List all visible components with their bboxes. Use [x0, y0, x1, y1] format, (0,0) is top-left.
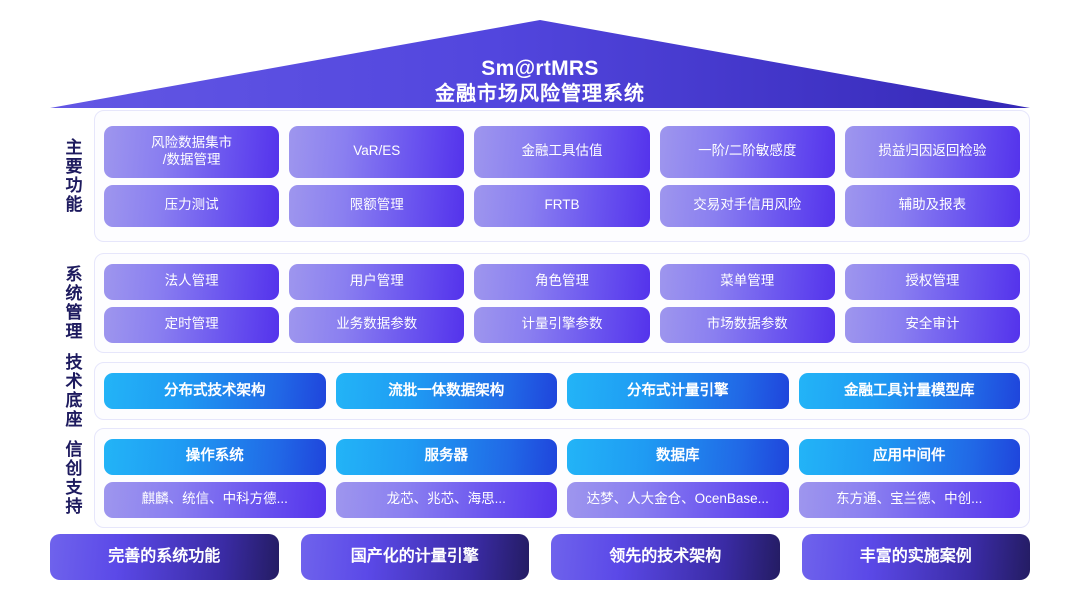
feature-cell[interactable]: 用户管理: [289, 264, 464, 300]
feature-cell[interactable]: 菜单管理: [660, 264, 835, 300]
highlight-cell[interactable]: 领先的技术架构: [551, 534, 780, 580]
feature-cell[interactable]: 辅助及报表: [845, 185, 1020, 227]
panel-row: 操作系统 服务器 数据库 应用中间件: [104, 439, 1020, 475]
layer-label-xinchuang-support: 信创支持: [50, 428, 94, 528]
layer-xinchuang-support: 信创支持 操作系统 服务器 数据库 应用中间件 麒麟、统信、中科方德... 龙芯…: [50, 428, 1030, 528]
panel-row: 定时管理 业务数据参数 计量引擎参数 市场数据参数 安全审计: [104, 307, 1020, 343]
xinchuang-vendor-cell[interactable]: 龙芯、兆芯、海思...: [336, 482, 558, 518]
feature-cell[interactable]: 风险数据集市 /数据管理: [104, 126, 279, 178]
feature-cell[interactable]: 授权管理: [845, 264, 1020, 300]
highlight-cell[interactable]: 丰富的实施案例: [802, 534, 1031, 580]
panel-row: 法人管理 用户管理 角色管理 菜单管理 授权管理: [104, 264, 1020, 300]
xinchuang-category-cell[interactable]: 数据库: [567, 439, 789, 475]
roof-triangle-icon: [0, 16, 1080, 110]
layer-label-system-management: 系统管理: [50, 253, 94, 353]
panel-row: 分布式技术架构 流批一体数据架构 分布式计量引擎 金融工具计量模型库: [104, 373, 1020, 409]
panel-xinchuang-support: 操作系统 服务器 数据库 应用中间件 麒麟、统信、中科方德... 龙芯、兆芯、海…: [94, 428, 1030, 528]
footer-highlights: 完善的系统功能 国产化的计量引擎 领先的技术架构 丰富的实施案例: [50, 534, 1030, 580]
feature-cell[interactable]: 法人管理: [104, 264, 279, 300]
panel-row: 压力测试 限额管理 FRTB 交易对手信用风险 辅助及报表: [104, 185, 1020, 227]
layer-label-main-functions: 主要功能: [50, 110, 94, 242]
feature-cell[interactable]: 安全审计: [845, 307, 1020, 343]
layer-main-functions: 主要功能 风险数据集市 /数据管理 VaR/ES 金融工具估值 一阶/二阶敏感度…: [50, 110, 1030, 242]
architecture-diagram: Sm@rtMRS 金融市场风险管理系统 主要功能 风险数据集市 /数据管理 Va…: [0, 0, 1080, 604]
xinchuang-vendor-cell[interactable]: 麒麟、统信、中科方德...: [104, 482, 326, 518]
feature-cell[interactable]: 市场数据参数: [660, 307, 835, 343]
layer-technology-foundation: 技术底座 分布式技术架构 流批一体数据架构 分布式计量引擎 金融工具计量模型库: [50, 362, 1030, 420]
feature-cell[interactable]: 计量引擎参数: [474, 307, 649, 343]
highlight-cell[interactable]: 国产化的计量引擎: [301, 534, 530, 580]
xinchuang-category-cell[interactable]: 应用中间件: [799, 439, 1021, 475]
panel-row: 风险数据集市 /数据管理 VaR/ES 金融工具估值 一阶/二阶敏感度 损益归因…: [104, 126, 1020, 178]
panel-main-functions: 风险数据集市 /数据管理 VaR/ES 金融工具估值 一阶/二阶敏感度 损益归因…: [94, 110, 1030, 242]
highlight-cell[interactable]: 完善的系统功能: [50, 534, 279, 580]
panel-system-management: 法人管理 用户管理 角色管理 菜单管理 授权管理 定时管理 业务数据参数 计量引…: [94, 253, 1030, 353]
feature-cell[interactable]: 定时管理: [104, 307, 279, 343]
feature-cell[interactable]: 金融工具估值: [474, 126, 649, 178]
feature-cell[interactable]: VaR/ES: [289, 126, 464, 178]
feature-cell[interactable]: 业务数据参数: [289, 307, 464, 343]
feature-cell[interactable]: 角色管理: [474, 264, 649, 300]
feature-cell[interactable]: 限额管理: [289, 185, 464, 227]
tech-cell[interactable]: 金融工具计量模型库: [799, 373, 1021, 409]
panel-row: 麒麟、统信、中科方德... 龙芯、兆芯、海思... 达梦、人大金仓、OcenBa…: [104, 482, 1020, 518]
tech-cell[interactable]: 分布式计量引擎: [567, 373, 789, 409]
tech-cell[interactable]: 流批一体数据架构: [336, 373, 558, 409]
panel-technology-foundation: 分布式技术架构 流批一体数据架构 分布式计量引擎 金融工具计量模型库: [94, 362, 1030, 420]
feature-cell[interactable]: 压力测试: [104, 185, 279, 227]
xinchuang-vendor-cell[interactable]: 达梦、人大金仓、OcenBase...: [567, 482, 789, 518]
feature-cell[interactable]: 一阶/二阶敏感度: [660, 126, 835, 178]
feature-cell[interactable]: 损益归因返回检验: [845, 126, 1020, 178]
roof-header: Sm@rtMRS 金融市场风险管理系统: [0, 16, 1080, 110]
layer-label-technology-foundation: 技术底座: [50, 362, 94, 420]
xinchuang-category-cell[interactable]: 服务器: [336, 439, 558, 475]
xinchuang-vendor-cell[interactable]: 东方通、宝兰德、中创...: [799, 482, 1021, 518]
feature-cell[interactable]: 交易对手信用风险: [660, 185, 835, 227]
layer-system-management: 系统管理 法人管理 用户管理 角色管理 菜单管理 授权管理 定时管理 业务数据参…: [50, 253, 1030, 353]
xinchuang-category-cell[interactable]: 操作系统: [104, 439, 326, 475]
feature-cell[interactable]: FRTB: [474, 185, 649, 227]
tech-cell[interactable]: 分布式技术架构: [104, 373, 326, 409]
